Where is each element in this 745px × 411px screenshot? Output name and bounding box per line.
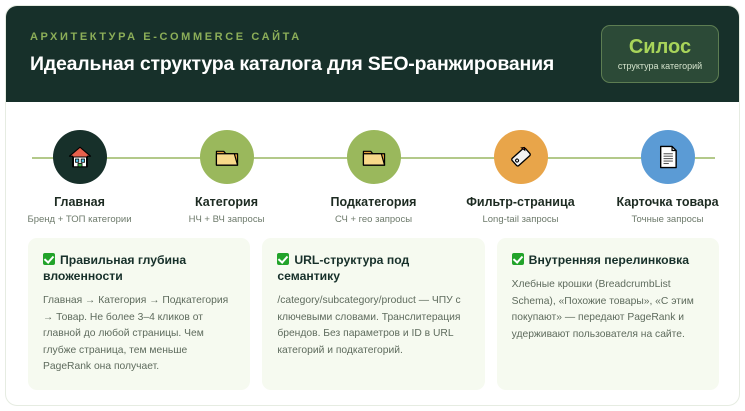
home-bubble	[53, 130, 107, 184]
timeline-step-category[interactable]: Категория НЧ + ВЧ запросы	[153, 102, 300, 230]
tip-card-heading-text: Внутренняя перелинковка	[529, 253, 689, 267]
tip-card: URL-структура под семантику /category/su…	[262, 238, 484, 390]
check-icon	[43, 253, 55, 265]
step-sublabel: НЧ + ВЧ запросы	[189, 214, 265, 226]
step-label: Карточка товара	[616, 195, 718, 210]
folder-icon	[361, 144, 387, 170]
step-sublabel: Точные запросы	[631, 214, 703, 226]
document-icon	[655, 144, 681, 170]
header: АРХИТЕКТУРА E-COMMERCE САЙТА Идеальная с…	[6, 6, 740, 102]
tag-icon	[508, 144, 534, 170]
tip-card-heading: Правильная глубина вложенности	[43, 252, 235, 284]
filter-bubble	[494, 130, 548, 184]
tip-card-heading: URL-структура под семантику	[277, 252, 469, 284]
category-bubble	[200, 130, 254, 184]
timeline: Главная Бренд + ТОП категории Категория …	[6, 102, 740, 230]
silo-badge: Силос структура категорий	[601, 25, 719, 83]
timeline-steps: Главная Бренд + ТОП категории Категория …	[6, 102, 740, 230]
tip-card-heading-text: URL-структура под семантику	[277, 253, 409, 283]
timeline-step-subcategory[interactable]: Подкатегория СЧ + гео запросы	[300, 102, 447, 230]
product-bubble	[641, 130, 695, 184]
tip-card-heading-text: Правильная глубина вложенности	[43, 253, 186, 283]
tips-cards: Правильная глубина вложенности Главная →…	[28, 238, 719, 390]
timeline-step-home[interactable]: Главная Бренд + ТОП категории	[6, 102, 153, 230]
step-label: Категория	[195, 195, 258, 210]
silo-badge-title: Силос	[629, 36, 691, 58]
step-label: Фильтр-страница	[466, 195, 574, 210]
tip-card: Правильная глубина вложенности Главная →…	[28, 238, 250, 390]
step-sublabel: Бренд + ТОП категории	[27, 214, 131, 226]
timeline-step-filter[interactable]: Фильтр-страница Long-tail запросы	[447, 102, 594, 230]
folder-icon	[214, 144, 240, 170]
tip-card: Внутренняя перелинковка Хлебные крошки (…	[497, 238, 719, 390]
step-label: Подкатегория	[331, 195, 417, 210]
house-icon	[67, 144, 93, 170]
infographic-panel: АРХИТЕКТУРА E-COMMERCE САЙТА Идеальная с…	[5, 5, 740, 406]
tip-card-body: /category/subcategory/product — ЧПУ с кл…	[277, 293, 469, 359]
step-sublabel: Long-tail запросы	[482, 214, 558, 226]
step-sublabel: СЧ + гео запросы	[335, 214, 412, 226]
tip-card-body: Хлебные крошки (BreadcrumbList Schema), …	[512, 277, 704, 343]
silo-badge-subtitle: структура категорий	[618, 60, 702, 72]
step-label: Главная	[54, 195, 105, 210]
check-icon	[277, 253, 289, 265]
tip-card-body: Главная → Категория → Подкатегория → Тов…	[43, 293, 235, 376]
tip-card-heading: Внутренняя перелинковка	[512, 252, 704, 268]
subcategory-bubble	[347, 130, 401, 184]
timeline-step-product[interactable]: Карточка товара Точные запросы	[594, 102, 740, 230]
check-icon	[512, 253, 524, 265]
